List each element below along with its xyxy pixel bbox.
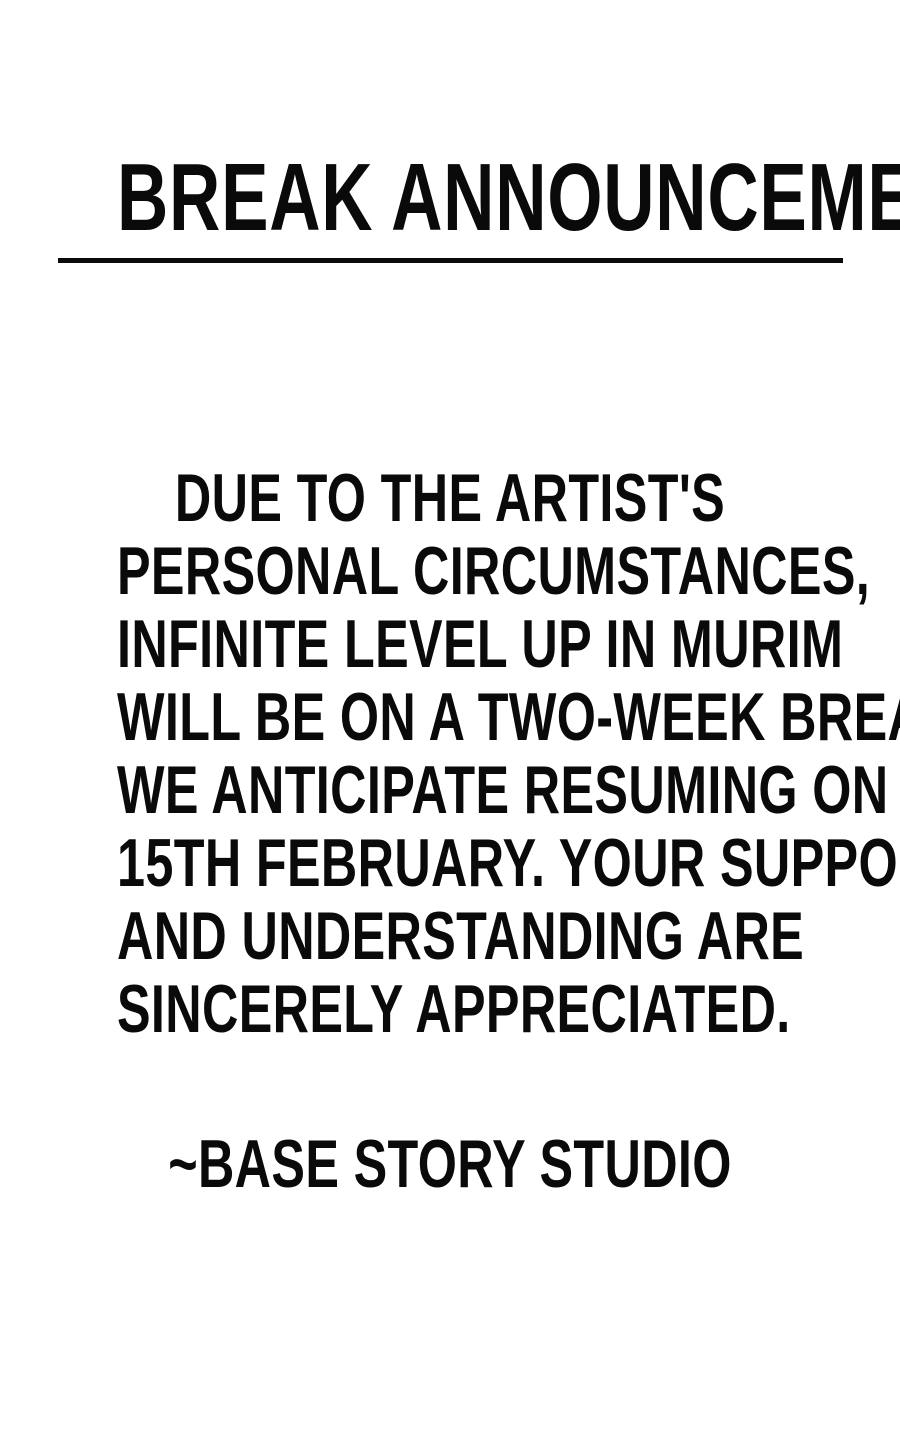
title-underline-rule	[58, 258, 843, 263]
body-line: AND UNDERSTANDING ARE	[117, 900, 783, 973]
body-line: DUE TO THE ARTIST'S	[117, 462, 783, 535]
announcement-body: DUE TO THE ARTIST'S PERSONAL CIRCUMSTANC…	[0, 462, 900, 1046]
announcement-signature: ~BASE STORY STUDIO	[0, 1128, 900, 1201]
announcement-header: BREAK ANNOUNCEMENT	[0, 150, 900, 246]
body-line: 15TH FEBRUARY. YOUR SUPPORT	[117, 827, 783, 900]
body-line: WILL BE ON A TWO-WEEK BREAK.	[117, 681, 783, 754]
body-line: PERSONAL CIRCUMSTANCES,	[117, 535, 783, 608]
studio-signature: ~BASE STORY STUDIO	[117, 1128, 783, 1201]
body-line: INFINITE LEVEL UP IN MURIM	[117, 608, 783, 681]
body-line: SINCERELY APPRECIATED.	[117, 973, 783, 1046]
body-line: WE ANTICIPATE RESUMING ON	[117, 754, 783, 827]
announcement-page: BREAK ANNOUNCEMENT DUE TO THE ARTIST'S P…	[0, 0, 900, 1446]
page-title: BREAK ANNOUNCEMENT	[117, 150, 783, 246]
